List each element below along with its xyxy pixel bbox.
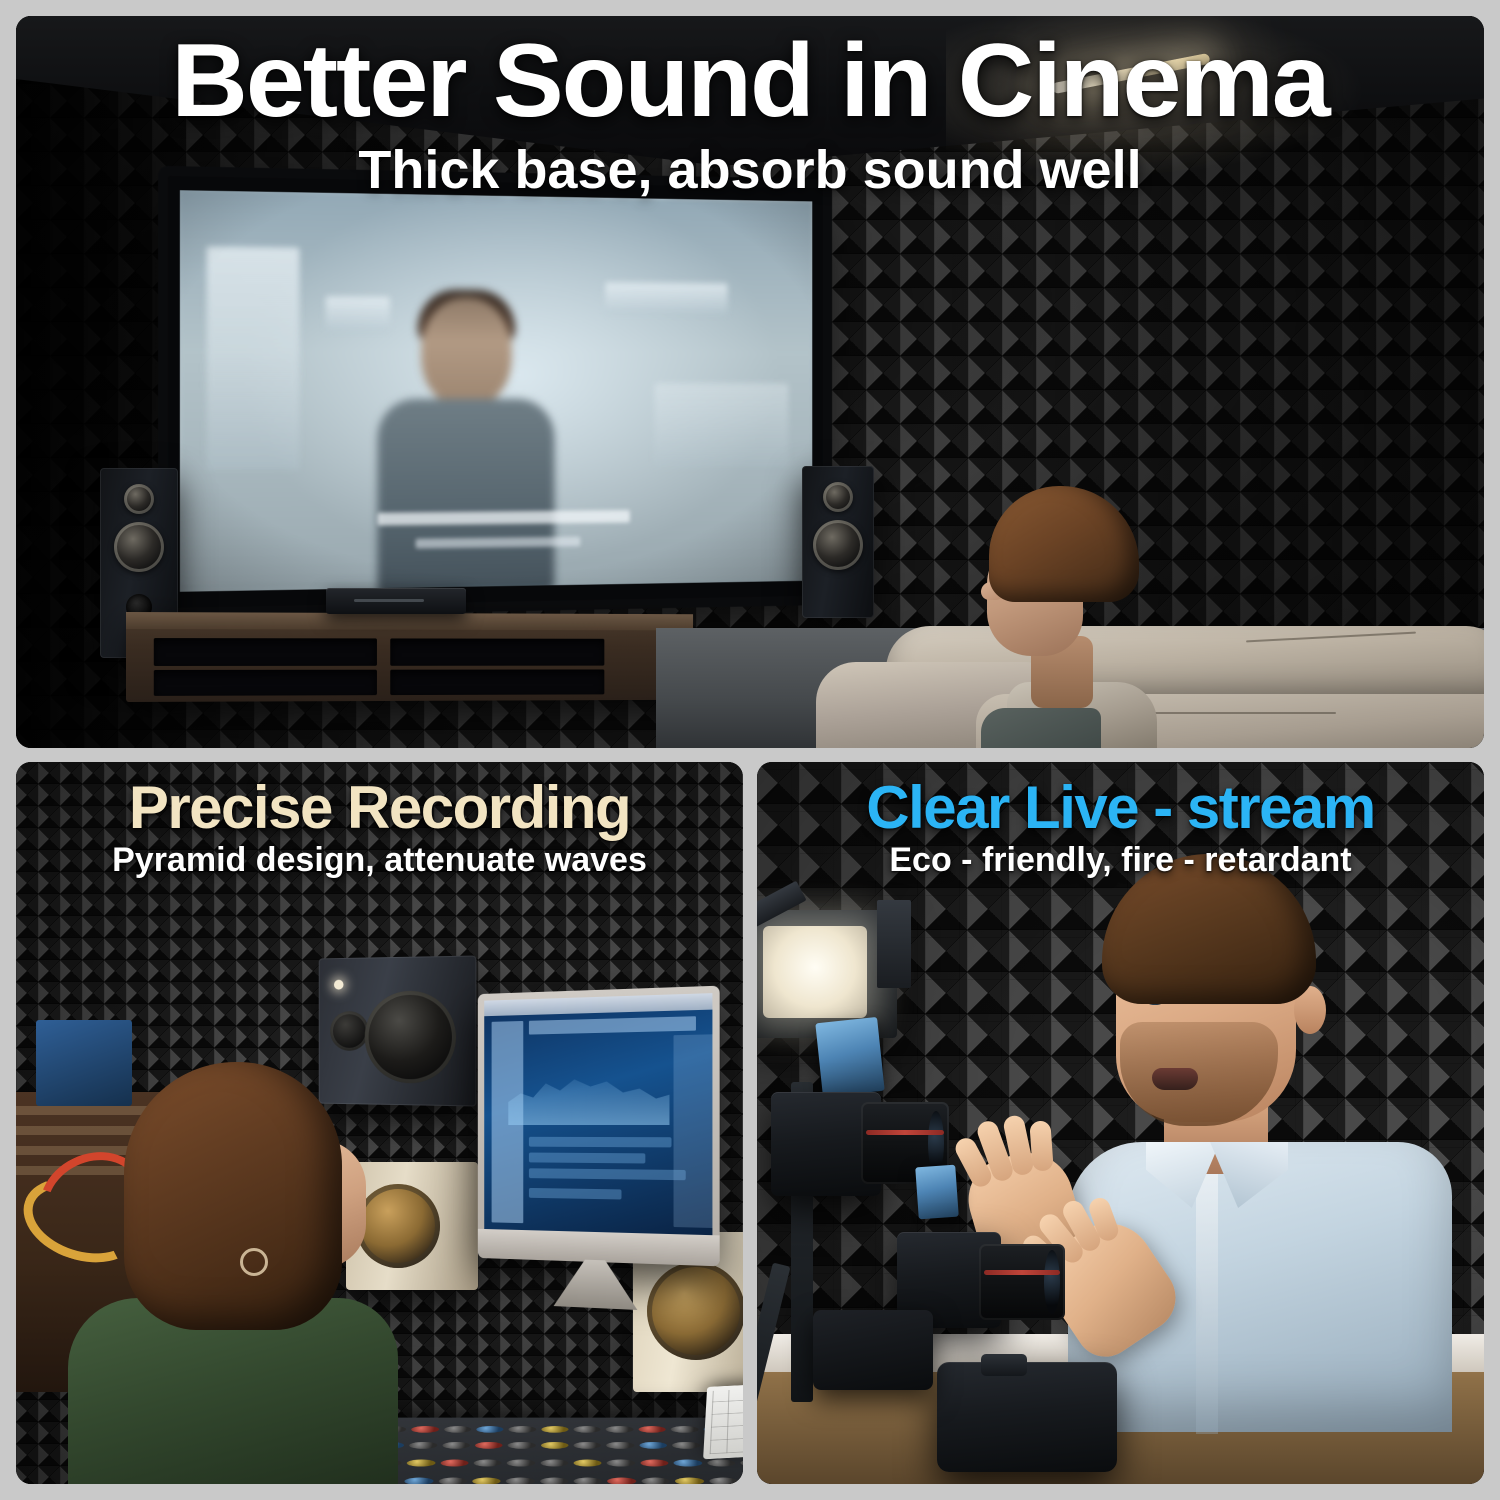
daw-inspector (674, 1034, 713, 1228)
daw-track (529, 1137, 672, 1148)
right-bookshelf-speaker (802, 466, 874, 618)
product-feature-poster: Better Sound in Cinema Thick base, absor… (0, 0, 1500, 1500)
tweeter-icon (823, 482, 853, 512)
console-shelf-2 (390, 638, 604, 665)
av-player (326, 588, 466, 614)
page-subtitle: Thick base, absorb sound well (16, 140, 1484, 200)
power-led-icon (334, 980, 344, 990)
woofer-icon (813, 520, 863, 570)
seated-viewer (971, 486, 1171, 748)
daw-software-window[interactable] (484, 993, 712, 1235)
console-shelf-3 (154, 670, 377, 696)
camera-body-lower[interactable] (813, 1310, 933, 1390)
shirt-placket (1196, 1154, 1218, 1434)
hoop-earring-icon (240, 1248, 268, 1276)
dslr-camera-foreground[interactable] (937, 1362, 1117, 1472)
daw-track (529, 1188, 622, 1200)
screen-surface (180, 190, 812, 592)
barndoor-flap (877, 900, 911, 988)
recording-text-block: Precise Recording Pyramid design, attenu… (16, 762, 743, 880)
screen-vignette (180, 190, 812, 592)
audio-engineer (84, 1062, 384, 1482)
camera-lens-secondary (979, 1244, 1065, 1320)
panel-title: Clear Live - stream (757, 776, 1484, 839)
bottom-panel-row: Precise Recording Pyramid design, attenu… (16, 762, 1484, 1484)
presenter-mouth (1152, 1068, 1198, 1090)
woofer-icon (647, 1262, 743, 1360)
console-shelf-1 (154, 638, 377, 666)
panel-precise-recording: Precise Recording Pyramid design, attenu… (16, 762, 743, 1484)
panel-subtitle: Pyramid design, attenuate waves (16, 841, 743, 880)
panel-home-cinema: Better Sound in Cinema Thick base, absor… (16, 16, 1484, 748)
panel-title: Precise Recording (16, 776, 743, 839)
page-title: Better Sound in Cinema (16, 26, 1484, 136)
engineer-hair (124, 1062, 342, 1330)
tweeter-icon (124, 484, 154, 514)
imac-computer[interactable] (478, 986, 720, 1267)
daw-track (529, 1153, 645, 1164)
daw-transport (529, 1016, 696, 1034)
tweeter-icon (330, 1011, 368, 1051)
viewer-shirt (981, 708, 1101, 748)
projection-screen (168, 176, 823, 608)
panel-clear-live-stream: Clear Live - stream Eco - friendly, fire… (757, 762, 1484, 1484)
camera-flip-screen-secondary[interactable] (915, 1165, 959, 1220)
finger (1029, 1120, 1053, 1171)
woofer-icon (114, 522, 164, 572)
console-surface (126, 612, 693, 630)
daw-waveform (508, 1062, 669, 1125)
camera-flip-screen[interactable] (815, 1017, 884, 1097)
panel-subtitle: Eco - friendly, fire - retardant (757, 841, 1484, 880)
livestream-text-block: Clear Live - stream Eco - friendly, fire… (757, 762, 1484, 880)
console-shelf-4 (390, 669, 604, 695)
keyboard-keys (710, 1377, 743, 1454)
presenter (1024, 854, 1444, 1414)
light-panel-icon (763, 926, 867, 1018)
wooden-media-console (126, 612, 693, 702)
lens-glass-icon (1044, 1250, 1060, 1314)
cinema-text-block: Better Sound in Cinema Thick base, absor… (16, 16, 1484, 201)
viewer-hair (989, 486, 1139, 602)
daw-track (529, 1168, 686, 1180)
camera-viewfinder (981, 1354, 1027, 1376)
